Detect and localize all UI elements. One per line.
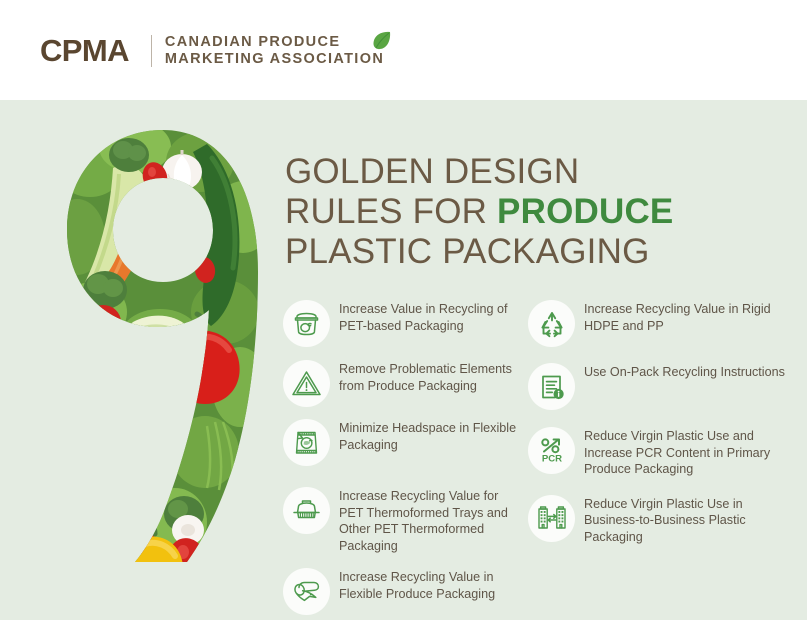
warning-triangle-icon	[283, 360, 330, 407]
rule-text: Minimize Headspace in Flexible Packaging	[339, 419, 518, 453]
logo-org-line-1: CANADIAN PRODUCE	[165, 34, 384, 51]
rule-item[interactable]: Increase Recycling Value in Rigid HDPE a…	[528, 300, 793, 347]
rules-right-column: Increase Recycling Value in Rigid HDPE a…	[528, 300, 793, 546]
logo-divider	[151, 35, 152, 67]
rule-item[interactable]: Remove Problematic Elements from Produce…	[283, 360, 518, 407]
rules-left-column: Increase Value in Recycling of PET-based…	[283, 300, 518, 615]
thermoformed-tray-icon	[283, 487, 330, 534]
cpma-logo: CPMA CANADIAN PRODUCE MARKETING ASSOCIAT…	[40, 34, 384, 68]
rule-text: Increase Recycling Value in Rigid HDPE a…	[584, 300, 793, 334]
rule-item[interactable]: Increase Value in Recycling of PET-based…	[283, 300, 518, 347]
leaf-icon	[370, 31, 392, 56]
film-roll-icon	[283, 568, 330, 615]
rule-item[interactable]: Minimize Headspace in Flexible Packaging	[283, 419, 518, 466]
header-band: CPMA CANADIAN PRODUCE MARKETING ASSOCIAT…	[0, 0, 807, 100]
business-to-business-icon	[528, 495, 575, 542]
rule-item[interactable]: Reduce Virgin Plastic Use in Business-to…	[528, 495, 793, 546]
tub-with-fruit-icon	[283, 300, 330, 347]
rule-text: Remove Problematic Elements from Produce…	[339, 360, 518, 394]
rule-item[interactable]: Increase Recycling Value in Flexible Pro…	[283, 568, 518, 615]
logo-wordmark: CPMA	[40, 35, 133, 66]
rules-container: Increase Value in Recycling of PET-based…	[0, 100, 807, 620]
rule-text: Reduce Virgin Plastic Use in Business-to…	[584, 495, 793, 546]
rule-text: Reduce Virgin Plastic Use and Increase P…	[584, 427, 793, 478]
rule-text: Increase Recycling Value for PET Thermof…	[339, 487, 518, 554]
pcr-percent-icon: PCR	[528, 427, 575, 474]
rule-item[interactable]: Increase Recycling Value for PET Thermof…	[283, 487, 518, 554]
logo-org-name: CANADIAN PRODUCE MARKETING ASSOCIATION	[165, 34, 384, 68]
logo-org-line-2: MARKETING ASSOCIATION	[165, 51, 384, 68]
recycling-symbol-icon	[528, 300, 575, 347]
pcr-icon-label: PCR	[541, 453, 561, 464]
rule-item[interactable]: Use On-Pack Recycling Instructions	[528, 363, 793, 410]
rule-text: Increase Value in Recycling of PET-based…	[339, 300, 518, 334]
poster-root: CPMA CANADIAN PRODUCE MARKETING ASSOCIAT…	[0, 0, 807, 620]
main-panel: GOLDEN DESIGN RULES FOR PRODUCE PLASTIC …	[0, 100, 807, 620]
document-info-icon	[528, 363, 575, 410]
rule-text: Increase Recycling Value in Flexible Pro…	[339, 568, 518, 602]
flexible-bag-icon	[283, 419, 330, 466]
rule-text: Use On-Pack Recycling Instructions	[584, 363, 785, 381]
rule-item[interactable]: PCR Reduce Virgin Plastic Use and Increa…	[528, 427, 793, 478]
